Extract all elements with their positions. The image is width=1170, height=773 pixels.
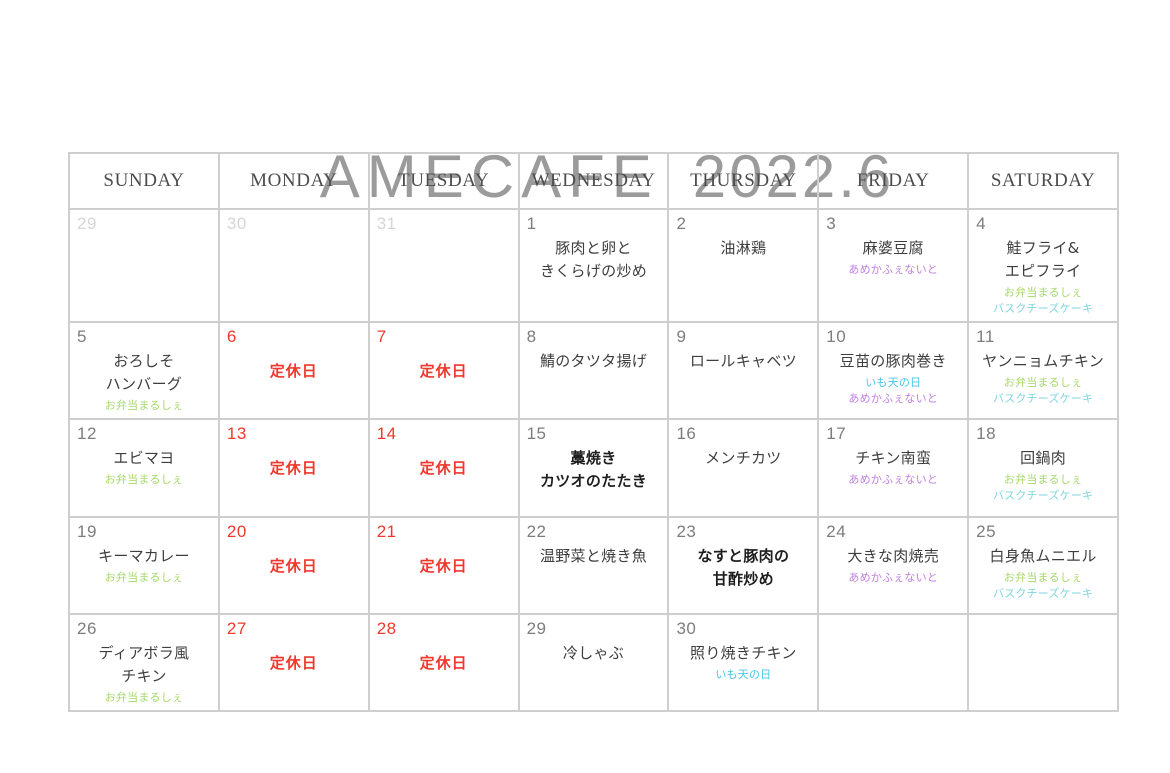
event-tag-basque: バスクチーズケーキ xyxy=(993,488,1093,504)
day-content: 豆苗の豚肉巻きいも天の日あめかふぇないと xyxy=(825,350,961,414)
weekday-header-sunday: SUNDAY xyxy=(70,154,220,210)
day-cell-29[interactable]: 29冷しゃぶ xyxy=(520,615,670,712)
day-number: 16 xyxy=(676,424,696,444)
day-content: ディアボラ風 チキンお弁当まるしぇ xyxy=(76,642,212,706)
day-number: 23 xyxy=(676,522,696,542)
closed-label: 定休日 xyxy=(420,652,468,675)
menu-label: 油淋鶏 xyxy=(720,237,766,260)
event-tag-list: お弁当まるしぇバスクチーズケーキ xyxy=(975,285,1111,317)
day-number: 1 xyxy=(527,214,537,234)
day-content: エビマヨお弁当まるしぇ xyxy=(76,447,212,511)
day-content: 冷しゃぶ xyxy=(526,642,662,706)
day-cell-23[interactable]: 23なすと豚肉の 甘酢炒め xyxy=(669,518,819,615)
menu-label: 冷しゃぶ xyxy=(563,642,624,665)
event-tag-night: あめかふぇないと xyxy=(848,570,938,586)
menu-label: ディアボラ風 チキン xyxy=(99,642,190,688)
weekday-header-thursday: THURSDAY xyxy=(669,154,819,210)
day-number: 22 xyxy=(527,522,547,542)
day-cell-8[interactable]: 8鯖のタツタ揚げ xyxy=(520,323,670,420)
day-content: キーマカレーお弁当まるしぇ xyxy=(76,545,212,609)
menu-label: おろしそ ハンバーグ xyxy=(106,350,183,396)
closed-label: 定休日 xyxy=(270,652,318,675)
day-cell-12[interactable]: 12エビマヨお弁当まるしぇ xyxy=(70,420,220,517)
day-number: 15 xyxy=(527,424,547,444)
day-cell-1[interactable]: 1豚肉と卵と きくらげの炒め xyxy=(520,210,670,323)
day-number: 18 xyxy=(976,424,996,444)
week-row: 5おろしそ ハンバーグお弁当まるしぇ6定休日7定休日8鯖のタツタ揚げ9ロールキャ… xyxy=(70,323,1119,420)
day-number: 4 xyxy=(976,214,986,234)
day-cell-10[interactable]: 10豆苗の豚肉巻きいも天の日あめかふぇないと xyxy=(819,323,969,420)
day-cell-26[interactable]: 26ディアボラ風 チキンお弁当まるしぇ xyxy=(70,615,220,712)
day-cell-13[interactable]: 13定休日 xyxy=(220,420,370,517)
day-number: 2 xyxy=(676,214,686,234)
closed-label: 定休日 xyxy=(270,555,318,578)
day-cell-17[interactable]: 17チキン南蛮あめかふぇないと xyxy=(819,420,969,517)
day-number: 29 xyxy=(527,619,547,639)
day-cell-2[interactable]: 2油淋鶏 xyxy=(669,210,819,323)
event-tag-basque: バスクチーズケーキ xyxy=(993,391,1093,407)
day-content: メンチカツ xyxy=(675,447,811,511)
week-row: 26ディアボラ風 チキンお弁当まるしぇ27定休日28定休日29冷しゃぶ30照り焼… xyxy=(70,615,1119,712)
event-tag-bento: お弁当まるしぇ xyxy=(105,690,183,706)
event-tag-bento: お弁当まるしぇ xyxy=(105,472,183,488)
day-cell-29[interactable]: 29 xyxy=(70,210,220,323)
day-cell-18[interactable]: 18回鍋肉お弁当まるしぇバスクチーズケーキ xyxy=(969,420,1119,517)
closed-label: 定休日 xyxy=(420,457,468,480)
menu-label: 鮭フライ& エピフライ xyxy=(1005,237,1082,283)
day-cell-25[interactable]: 25白身魚ムニエルお弁当まるしぇバスクチーズケーキ xyxy=(969,518,1119,615)
day-number: 27 xyxy=(227,619,247,639)
menu-label: キーマカレー xyxy=(98,545,190,568)
day-number: 19 xyxy=(77,522,97,542)
day-cell-6[interactable]: 6定休日 xyxy=(220,323,370,420)
day-cell-30[interactable]: 30 xyxy=(220,210,370,323)
closed-label: 定休日 xyxy=(270,360,318,383)
day-content: 鯖のタツタ揚げ xyxy=(526,350,662,414)
day-number: 7 xyxy=(377,327,387,347)
day-cell-16[interactable]: 16メンチカツ xyxy=(669,420,819,517)
week-row: 12エビマヨお弁当まるしぇ13定休日14定休日15藁焼き カツオのたたき16メン… xyxy=(70,420,1119,517)
day-cell-19[interactable]: 19キーマカレーお弁当まるしぇ xyxy=(70,518,220,615)
day-cell-3[interactable]: 3麻婆豆腐あめかふぇないと xyxy=(819,210,969,323)
day-content: 鮭フライ& エピフライお弁当まるしぇバスクチーズケーキ xyxy=(975,237,1111,317)
day-number: 26 xyxy=(77,619,97,639)
day-content: 大きな肉焼売あめかふぇないと xyxy=(825,545,961,609)
menu-label: 豆苗の豚肉巻き xyxy=(840,350,947,373)
week-row: 19キーマカレーお弁当まるしぇ20定休日21定休日22温野菜と焼き魚23なすと豚… xyxy=(70,518,1119,615)
menu-label: 藁焼き カツオのたたき xyxy=(540,447,647,493)
day-content: 油淋鶏 xyxy=(675,237,811,317)
menu-label: 白身魚ムニエル xyxy=(990,545,1097,568)
event-tag-list: あめかふぇないと xyxy=(825,472,961,488)
weekday-header-tuesday: TUESDAY xyxy=(370,154,520,210)
day-number: 8 xyxy=(527,327,537,347)
day-content xyxy=(226,237,362,317)
day-cell-22[interactable]: 22温野菜と焼き魚 xyxy=(520,518,670,615)
day-content: 定休日 xyxy=(376,555,512,609)
event-tag-bento: お弁当まるしぇ xyxy=(1004,472,1082,488)
day-content: 定休日 xyxy=(376,360,512,414)
day-content: 定休日 xyxy=(226,555,362,609)
menu-label: メンチカツ xyxy=(705,447,782,470)
event-tag-list: いも天の日 xyxy=(675,667,811,683)
day-content xyxy=(975,642,1111,706)
day-number: 13 xyxy=(227,424,247,444)
event-tag-list: お弁当まるしぇ xyxy=(76,570,212,586)
day-number: 28 xyxy=(377,619,397,639)
day-content: ロールキャベツ xyxy=(675,350,811,414)
week-row: 2930311豚肉と卵と きくらげの炒め2油淋鶏3麻婆豆腐あめかふぇないと4鮭フ… xyxy=(70,210,1119,323)
day-content: 麻婆豆腐あめかふぇないと xyxy=(825,237,961,317)
day-number: 17 xyxy=(826,424,846,444)
day-number: 30 xyxy=(676,619,696,639)
day-number: 20 xyxy=(227,522,247,542)
event-tag-night: あめかふぇないと xyxy=(848,391,938,407)
menu-label: 照り焼きチキン xyxy=(690,642,797,665)
day-cell-21[interactable]: 21定休日 xyxy=(370,518,520,615)
day-content: 照り焼きチキンいも天の日 xyxy=(675,642,811,706)
event-tag-list: お弁当まるしぇバスクチーズケーキ xyxy=(975,375,1111,407)
closed-label: 定休日 xyxy=(420,555,468,578)
event-tag-basque: バスクチーズケーキ xyxy=(993,586,1093,602)
event-tag-bento: お弁当まるしぇ xyxy=(105,570,183,586)
day-cell-20[interactable]: 20定休日 xyxy=(220,518,370,615)
day-cell-empty xyxy=(969,615,1119,712)
event-tag-bento: お弁当まるしぇ xyxy=(1004,285,1082,301)
event-tag-bento: お弁当まるしぇ xyxy=(105,398,183,414)
event-tag-imoten: いも天の日 xyxy=(865,375,921,391)
menu-label: 麻婆豆腐 xyxy=(863,237,924,260)
day-number: 10 xyxy=(826,327,846,347)
day-number: 29 xyxy=(77,214,97,234)
closed-label: 定休日 xyxy=(420,360,468,383)
day-cell-14[interactable]: 14定休日 xyxy=(370,420,520,517)
event-tag-bento: お弁当まるしぇ xyxy=(1004,375,1082,391)
day-content: 定休日 xyxy=(226,457,362,511)
weekday-header-monday: MONDAY xyxy=(220,154,370,210)
day-number: 31 xyxy=(377,214,397,234)
menu-label: ロールキャベツ xyxy=(690,350,797,373)
day-number: 14 xyxy=(377,424,397,444)
event-tag-list: あめかふぇないと xyxy=(825,570,961,586)
day-cell-24[interactable]: 24大きな肉焼売あめかふぇないと xyxy=(819,518,969,615)
day-number: 11 xyxy=(976,327,995,347)
day-content xyxy=(825,642,961,706)
menu-label: 鯖のタツタ揚げ xyxy=(540,350,647,373)
day-content: 温野菜と焼き魚 xyxy=(526,545,662,609)
day-content: チキン南蛮あめかふぇないと xyxy=(825,447,961,511)
menu-label: 豚肉と卵と きくらげの炒め xyxy=(540,237,647,283)
day-cell-5[interactable]: 5おろしそ ハンバーグお弁当まるしぇ xyxy=(70,323,220,420)
day-cell-7[interactable]: 7定休日 xyxy=(370,323,520,420)
weekday-header-saturday: SATURDAY xyxy=(969,154,1119,210)
day-content xyxy=(376,237,512,317)
closed-label: 定休日 xyxy=(270,457,318,480)
event-tag-list: お弁当まるしぇ xyxy=(76,690,212,706)
day-content: 定休日 xyxy=(226,652,362,706)
calendar-grid: SUNDAYMONDAYTUESDAYWEDNESDAYTHURSDAYFRID… xyxy=(68,152,1119,712)
day-content: 定休日 xyxy=(376,652,512,706)
day-cell-9[interactable]: 9ロールキャベツ xyxy=(669,323,819,420)
day-number: 30 xyxy=(227,214,247,234)
event-tag-list: お弁当まるしぇ xyxy=(76,472,212,488)
event-tag-list: お弁当まるしぇバスクチーズケーキ xyxy=(975,472,1111,504)
day-number: 5 xyxy=(77,327,87,347)
day-content: 定休日 xyxy=(376,457,512,511)
weekday-header-wednesday: WEDNESDAY xyxy=(520,154,670,210)
day-content: 豚肉と卵と きくらげの炒め xyxy=(526,237,662,317)
menu-label: 大きな肉焼売 xyxy=(847,545,939,568)
menu-label: 温野菜と焼き魚 xyxy=(540,545,647,568)
day-number: 9 xyxy=(676,327,686,347)
day-cell-4[interactable]: 4鮭フライ& エピフライお弁当まるしぇバスクチーズケーキ xyxy=(969,210,1119,323)
weekday-header-friday: FRIDAY xyxy=(819,154,969,210)
menu-label: ヤンニョムチキン xyxy=(982,350,1104,373)
day-number: 21 xyxy=(377,522,397,542)
event-tag-night: あめかふぇないと xyxy=(848,472,938,488)
event-tag-basque: バスクチーズケーキ xyxy=(993,301,1093,317)
day-cell-31[interactable]: 31 xyxy=(370,210,520,323)
day-number: 25 xyxy=(976,522,996,542)
event-tag-bento: お弁当まるしぇ xyxy=(1004,570,1082,586)
day-cell-11[interactable]: 11ヤンニョムチキンお弁当まるしぇバスクチーズケーキ xyxy=(969,323,1119,420)
day-content: 藁焼き カツオのたたき xyxy=(526,447,662,511)
day-cell-27[interactable]: 27定休日 xyxy=(220,615,370,712)
day-content: なすと豚肉の 甘酢炒め xyxy=(675,545,811,609)
event-tag-night: あめかふぇないと xyxy=(848,262,938,278)
day-content: 回鍋肉お弁当まるしぇバスクチーズケーキ xyxy=(975,447,1111,511)
event-tag-list: お弁当まるしぇ xyxy=(76,398,212,414)
weekday-header-row: SUNDAYMONDAYTUESDAYWEDNESDAYTHURSDAYFRID… xyxy=(70,154,1119,210)
event-tag-list: いも天の日あめかふぇないと xyxy=(825,375,961,407)
day-content: ヤンニョムチキンお弁当まるしぇバスクチーズケーキ xyxy=(975,350,1111,414)
event-tag-list: あめかふぇないと xyxy=(825,262,961,278)
day-cell-30[interactable]: 30照り焼きチキンいも天の日 xyxy=(669,615,819,712)
menu-label: なすと豚肉の 甘酢炒め xyxy=(697,545,789,591)
day-cell-28[interactable]: 28定休日 xyxy=(370,615,520,712)
day-number: 6 xyxy=(227,327,237,347)
event-tag-list: お弁当まるしぇバスクチーズケーキ xyxy=(975,570,1111,602)
menu-label: 回鍋肉 xyxy=(1020,447,1066,470)
day-content: 白身魚ムニエルお弁当まるしぇバスクチーズケーキ xyxy=(975,545,1111,609)
menu-label: チキン南蛮 xyxy=(855,447,931,470)
day-number: 3 xyxy=(826,214,836,234)
day-content: 定休日 xyxy=(226,360,362,414)
day-content: おろしそ ハンバーグお弁当まるしぇ xyxy=(76,350,212,414)
day-number: 24 xyxy=(826,522,846,542)
day-content xyxy=(76,237,212,317)
menu-label: エビマヨ xyxy=(113,447,174,470)
day-number: 12 xyxy=(77,424,97,444)
event-tag-imoten: いも天の日 xyxy=(715,667,771,683)
day-cell-empty xyxy=(819,615,969,712)
day-cell-15[interactable]: 15藁焼き カツオのたたき xyxy=(520,420,670,517)
